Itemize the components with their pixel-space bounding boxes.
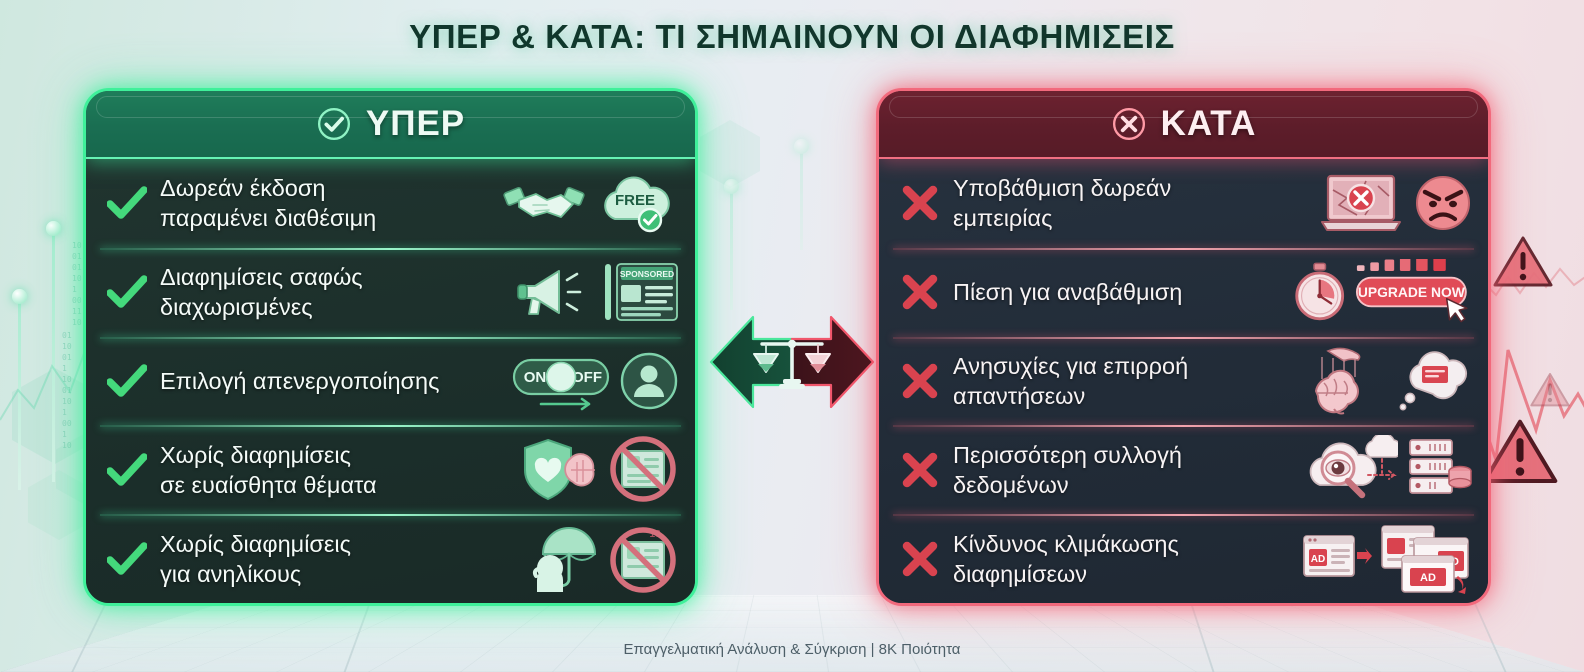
hexagon-shape bbox=[700, 120, 760, 188]
browser-ad-icon: AD bbox=[1302, 530, 1372, 588]
svg-text:FREE: FREE bbox=[615, 192, 655, 209]
cons-panel: ΚΑΤΑ Υποβάθμιση δωρεάν εμπειρίας bbox=[876, 88, 1491, 606]
cross-icon bbox=[897, 184, 943, 222]
puppet-brain-art bbox=[1292, 344, 1472, 418]
pros-panel: ΥΠΕΡ Δωρεάν έκδοση παραμένει διαθέσιμη bbox=[83, 88, 698, 606]
code-texture: 1001 0110 1 0011 10 bbox=[72, 240, 82, 390]
hexagon-shape bbox=[28, 470, 90, 540]
infographic-canvas: 01 10 011 10 0110 1 001 10 1001 0110 1 0… bbox=[0, 0, 1584, 672]
data-pin bbox=[52, 232, 55, 482]
megaphone-sponsored-art: SPONSORED bbox=[499, 255, 679, 329]
cross-icon bbox=[897, 362, 943, 400]
list-item[interactable]: Υποβάθμιση δωρεάν εμπειρίας bbox=[879, 159, 1488, 248]
svg-text:UPGRADE NOW: UPGRADE NOW bbox=[1358, 284, 1466, 300]
free-cloud-icon: FREE bbox=[593, 171, 679, 235]
puppet-brain-icon bbox=[1300, 345, 1388, 417]
list-item-label: Δωρεάν έκδοση παραμένει διαθέσιμη bbox=[160, 173, 489, 233]
list-item-label: Χωρίς διαφημίσεις για ανηλίκους bbox=[160, 529, 489, 589]
child-umbrella-icon bbox=[519, 524, 599, 594]
list-item[interactable]: Πίεση για αναβάθμιση bbox=[879, 248, 1488, 337]
check-icon bbox=[104, 275, 150, 309]
cons-panel-header: ΚΑΤΑ bbox=[879, 91, 1488, 159]
pros-list: Δωρεάν έκδοση παραμένει διαθέσιμη FREE bbox=[86, 159, 695, 603]
list-item[interactable]: Επιλογή απενεργοποίησης ON OFF bbox=[86, 337, 695, 426]
cross-icon bbox=[897, 451, 943, 489]
list-item-label: Κίνδυνος κλιμάκωσης διαφημίσεων bbox=[953, 529, 1282, 589]
list-item-label: Περισσότερη συλλογή δεδομένων bbox=[953, 440, 1282, 500]
no-ads-icon bbox=[607, 435, 679, 505]
broken-laptop-angry-art bbox=[1292, 166, 1472, 240]
svg-text:AD: AD bbox=[1420, 572, 1436, 584]
list-item[interactable]: Διαφημίσεις σαφώς διαχωρισμένες bbox=[86, 248, 695, 337]
warning-triangle-icon bbox=[1482, 418, 1558, 486]
list-item[interactable]: Περισσότερη συλλογή δεδομένων bbox=[879, 425, 1488, 514]
pros-header-title: ΥΠΕΡ bbox=[366, 104, 465, 144]
list-item[interactable]: Χωρίς διαφημίσεις σε ευαίσθητα θέματα bbox=[86, 425, 695, 514]
shield-noads-art bbox=[499, 433, 679, 507]
toggle-switch-icon: ON OFF bbox=[511, 350, 611, 412]
data-pin bbox=[730, 190, 733, 310]
angry-face-icon bbox=[1414, 174, 1472, 232]
multi-browser-ads-icon: AD AD bbox=[1380, 524, 1472, 594]
list-item[interactable]: Χωρίς διαφημίσεις για ανηλίκους bbox=[86, 514, 695, 603]
check-icon bbox=[104, 542, 150, 576]
handshake-icon bbox=[503, 174, 585, 232]
svg-text:AD: AD bbox=[1311, 554, 1325, 565]
list-item-label: Υποβάθμιση δωρεάν εμπειρίας bbox=[953, 173, 1282, 233]
no-ads-18-icon: 18 bbox=[607, 524, 679, 594]
cons-header-title: ΚΑΤΑ bbox=[1161, 104, 1257, 144]
check-icon bbox=[104, 186, 150, 220]
broken-laptop-icon bbox=[1318, 170, 1406, 236]
data-pin bbox=[18, 300, 21, 490]
stopwatch-icon bbox=[1292, 260, 1347, 324]
cross-icon bbox=[897, 540, 943, 578]
x-circle-icon bbox=[1111, 106, 1147, 142]
list-item[interactable]: Κίνδυνος κλιμάκωσης διαφημίσεων AD bbox=[879, 514, 1488, 603]
footer-caption: Επαγγελματική Ανάλυση & Σύγκριση | 8K Πο… bbox=[0, 641, 1584, 658]
child-umbrella-art: 18 bbox=[499, 522, 679, 596]
upgrade-pressure-art: UPGRADE NOW bbox=[1292, 255, 1472, 329]
cross-icon bbox=[897, 273, 943, 311]
warning-triangle-icon bbox=[1493, 235, 1553, 289]
svg-text:ON: ON bbox=[524, 369, 547, 386]
pros-panel-header: ΥΠΕΡ bbox=[86, 91, 695, 159]
list-item[interactable]: Ανησυχίες για επιρροή απαντήσεων bbox=[879, 337, 1488, 426]
cloud-eye-magnifier-icon bbox=[1302, 435, 1398, 505]
upgrade-button-icon: UPGRADE NOW bbox=[1355, 259, 1472, 325]
list-item-label: Επιλογή απενεργοποίησης bbox=[160, 366, 489, 396]
data-pin bbox=[800, 150, 803, 250]
code-texture: 01 10 011 10 0110 1 001 10 bbox=[62, 330, 72, 490]
svg-text:OFF: OFF bbox=[572, 369, 602, 386]
handshake-free-art: FREE bbox=[499, 166, 679, 240]
server-database-icon bbox=[1406, 434, 1472, 506]
list-item-label: Χωρίς διαφημίσεις σε ευαίσθητα θέματα bbox=[160, 440, 489, 500]
ad-escalation-art: AD bbox=[1292, 522, 1472, 596]
grid-floor bbox=[0, 595, 1584, 672]
toggle-avatar-art: ON OFF bbox=[499, 344, 679, 418]
sponsored-card-icon: SPONSORED bbox=[603, 261, 679, 323]
list-item-label: Ανησυχίες για επιρροή απαντήσεων bbox=[953, 351, 1282, 411]
list-item-label: Διαφημίσεις σαφώς διαχωρισμένες bbox=[160, 262, 489, 322]
svg-text:SPONSORED: SPONSORED bbox=[620, 269, 674, 279]
warning-triangle-icon bbox=[1530, 372, 1570, 408]
thought-bubble-ad-icon bbox=[1396, 348, 1472, 414]
data-collection-art bbox=[1292, 433, 1472, 507]
cons-list: Υποβάθμιση δωρεάν εμπειρίας bbox=[879, 159, 1488, 603]
double-arrow-icon bbox=[709, 303, 875, 421]
list-item[interactable]: Δωρεάν έκδοση παραμένει διαθέσιμη FREE bbox=[86, 159, 695, 248]
comparison-arrow bbox=[709, 303, 875, 421]
megaphone-icon bbox=[515, 262, 595, 322]
check-icon bbox=[104, 364, 150, 398]
page-title: ΥΠΕΡ & ΚΑΤΑ: ΤΙ ΣΗΜΑΙΝΟΥΝ ΟΙ ΔΙΑΦΗΜΙΣΕΙΣ bbox=[0, 18, 1584, 56]
user-avatar-icon bbox=[619, 351, 679, 411]
check-icon bbox=[104, 453, 150, 487]
shield-heart-brain-icon bbox=[521, 436, 599, 504]
check-circle-icon bbox=[316, 106, 352, 142]
list-item-label: Πίεση για αναβάθμιση bbox=[953, 277, 1282, 307]
